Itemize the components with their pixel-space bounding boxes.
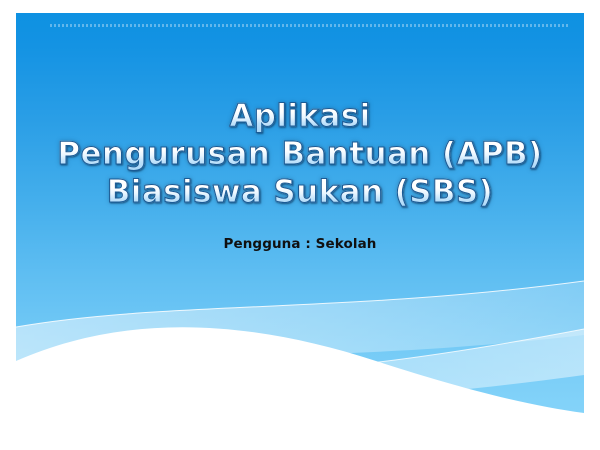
dotted-divider-line xyxy=(50,24,570,27)
bottom-wave-ribbon xyxy=(16,257,584,437)
title-line-1: Aplikasi xyxy=(16,101,584,132)
slide-title: Aplikasi Pengurusan Bantuan (APB) Biasis… xyxy=(16,101,584,208)
title-line-2: Pengurusan Bantuan (APB) xyxy=(16,139,584,170)
title-line-3: Biasiswa Sukan (SBS) xyxy=(16,177,584,208)
slide-canvas: Aplikasi Pengurusan Bantuan (APB) Biasis… xyxy=(0,0,600,450)
presentation-slide: Aplikasi Pengurusan Bantuan (APB) Biasis… xyxy=(16,13,584,437)
slide-subtitle: Pengguna : Sekolah xyxy=(16,236,584,252)
